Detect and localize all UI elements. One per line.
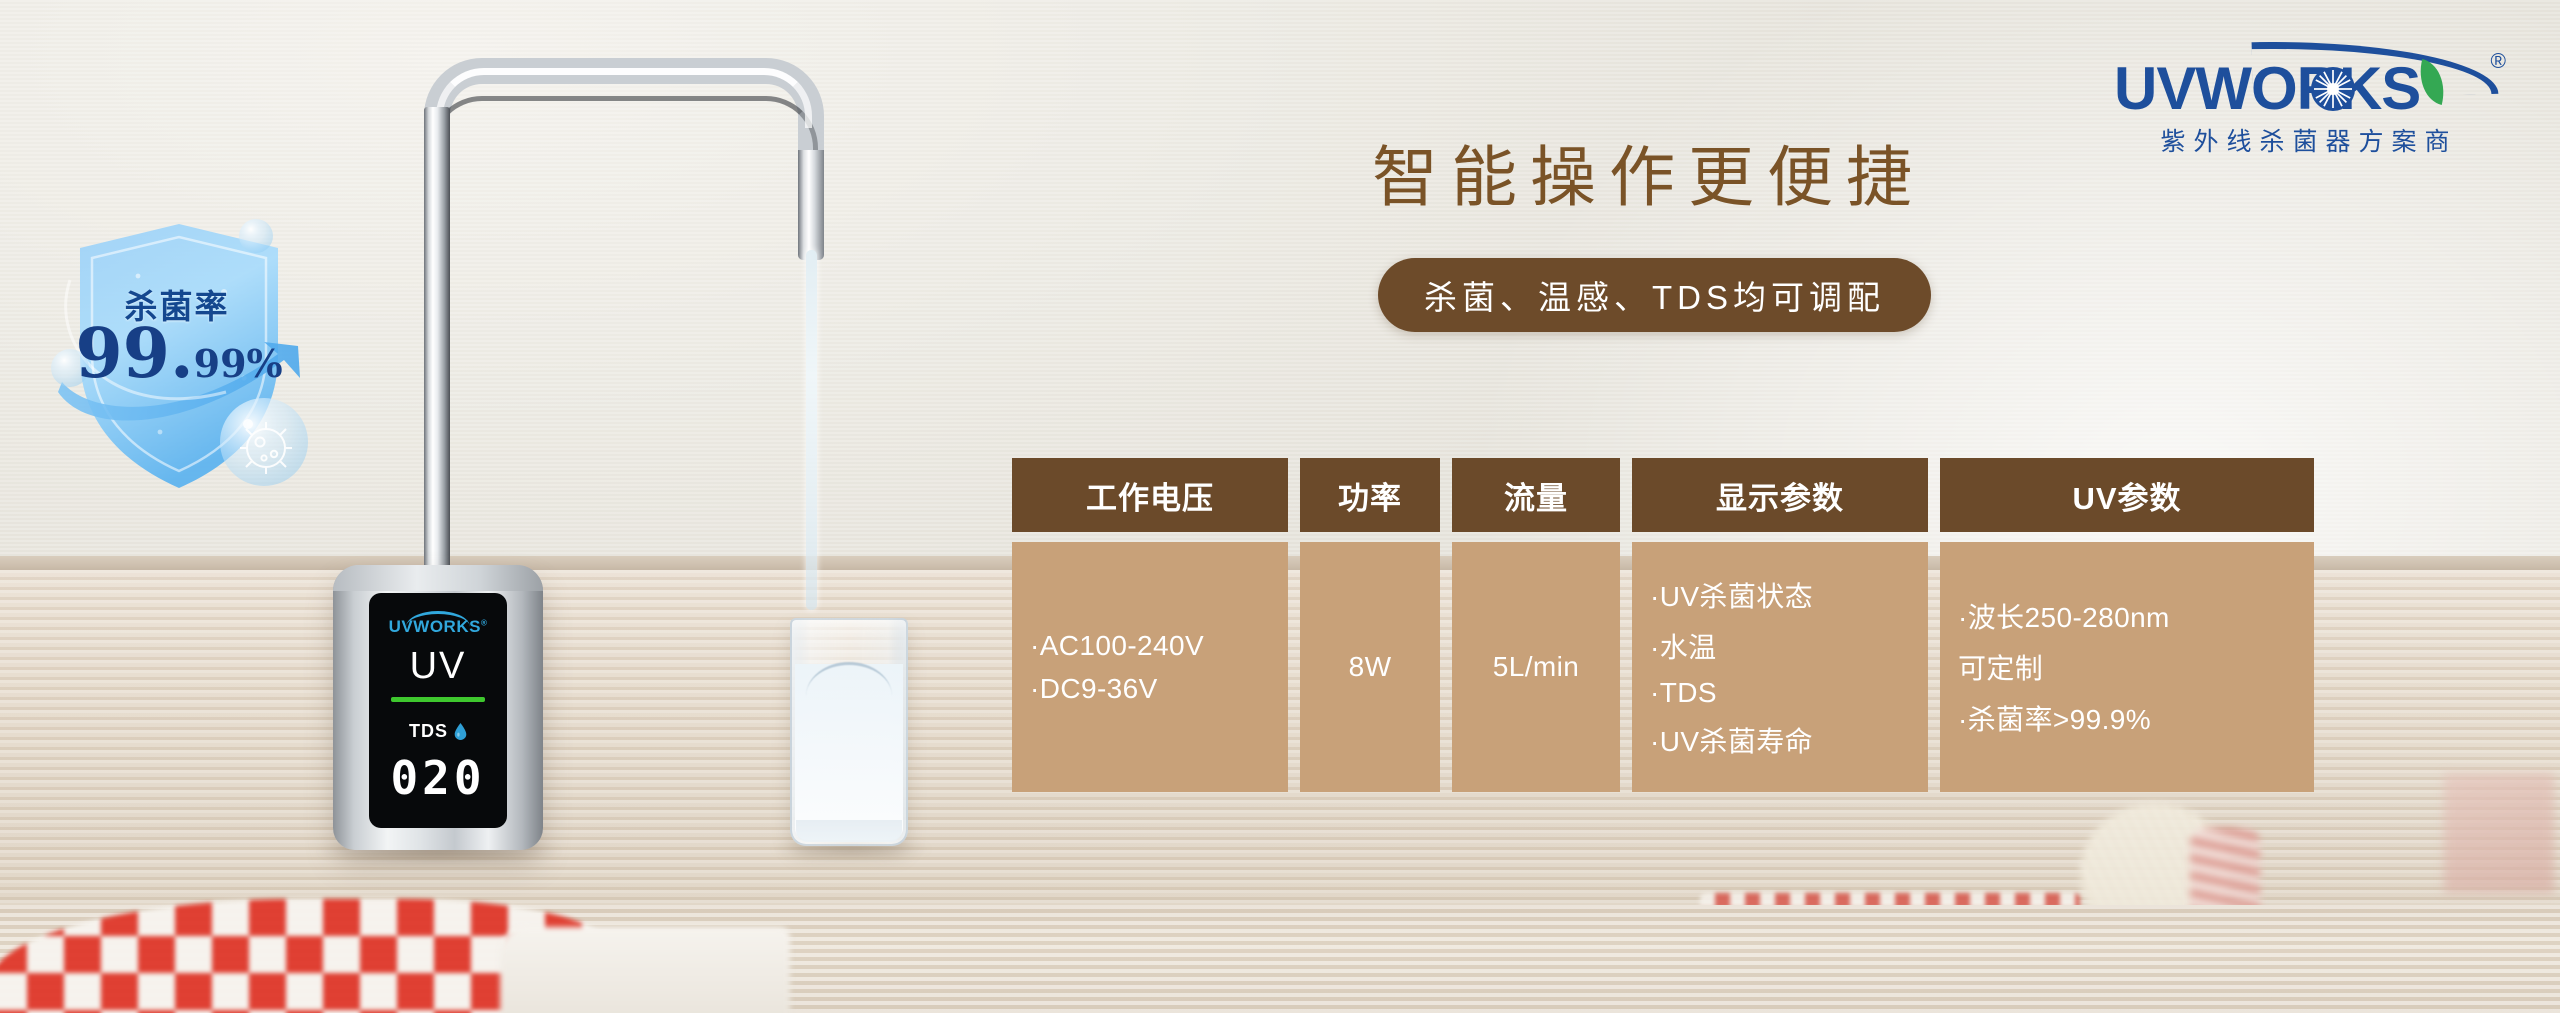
badge-percentage: 99.99%: [48, 320, 310, 388]
feature-pill-label: 杀菌、温感、TDS均可调配: [1424, 271, 1885, 319]
spec-column: 流量5L/min: [1452, 458, 1620, 792]
spec-line: 可定制: [1958, 647, 2043, 687]
badge-value-fraction: 99%: [194, 341, 283, 386]
faucet-spout: [798, 150, 824, 260]
screen-status-bar: [391, 697, 485, 702]
screen-brand-logo: UVWORKS®: [369, 617, 507, 637]
faucet-arc: [424, 58, 824, 188]
spec-line: ·杀菌率>99.9%: [1958, 698, 2151, 738]
spec-line: ·水温: [1650, 626, 1717, 666]
screen-tds-row: TDS: [369, 721, 507, 742]
page-title: 智能操作更便捷: [1372, 124, 1925, 220]
bubble-icon: [239, 219, 273, 253]
spec-line: 8W: [1349, 651, 1392, 683]
badge-value-integer: 99: [75, 314, 170, 394]
brand-logo[interactable]: UVWORKS ® 紫外线杀菌器方案商: [2114, 42, 2504, 158]
device-display-panel[interactable]: UVWORKS® UV TDS 020: [369, 593, 507, 828]
device-top-cap: [333, 565, 543, 591]
badge-value-separator: .: [170, 314, 194, 394]
spec-column: 显示参数·UV杀菌状态·水温·TDS·UV杀菌寿命: [1632, 458, 1928, 792]
brand-tagline: 紫外线杀菌器方案商: [2114, 122, 2504, 158]
spec-column-body: 8W: [1300, 542, 1440, 792]
spec-line: ·DC9-36V: [1030, 673, 1158, 705]
uv-sterilizer-device[interactable]: UVWORKS® UV TDS 020: [333, 565, 543, 850]
faucet-stem: [424, 107, 450, 577]
spec-column: 工作电压·AC100-240V·DC9-36V: [1012, 458, 1288, 792]
spec-line: 5L/min: [1493, 651, 1579, 683]
spec-column-header: UV参数: [1940, 458, 2314, 532]
screen-brand-registered: ®: [481, 618, 487, 627]
screen-brand-text: UVWORKS: [389, 617, 481, 636]
spec-line: ·AC100-240V: [1030, 630, 1204, 662]
spec-column-body: 5L/min: [1452, 542, 1620, 792]
spec-column-header: 显示参数: [1632, 458, 1928, 532]
spec-line: ·波长250-280nm: [1958, 596, 2170, 636]
white-dish-prop: [500, 927, 790, 1013]
spec-column-body: ·AC100-240V·DC9-36V: [1012, 542, 1288, 792]
feature-pill: 杀菌、温感、TDS均可调配: [1378, 258, 1931, 332]
water-drop-icon: [454, 723, 467, 740]
spec-column-header: 工作电压: [1012, 458, 1288, 532]
brand-wordmark: UVWORKS: [2114, 54, 2420, 123]
spec-line: ·UV杀菌状态: [1650, 575, 1813, 615]
spec-column-body: ·UV杀菌状态·水温·TDS·UV杀菌寿命: [1632, 542, 1928, 792]
screen-mode-label: UV: [369, 645, 507, 688]
spec-line: ·UV杀菌寿命: [1650, 720, 1813, 760]
screen-tds-value: 020: [369, 751, 507, 805]
wood-block-prop-c: [2444, 773, 2554, 893]
uvworks-sun-icon: [2310, 66, 2356, 112]
glass-base: [796, 820, 902, 842]
spec-column-header: 流量: [1452, 458, 1620, 532]
screen-tds-label: TDS: [409, 721, 448, 742]
spec-column-body: ·波长250-280nm可定制·杀菌率>99.9%: [1940, 542, 2314, 792]
brand-registered-mark: ®: [2491, 50, 2506, 74]
germ-icon: [220, 398, 308, 486]
spec-column: UV参数·波长250-280nm可定制·杀菌率>99.9%: [1940, 458, 2314, 792]
spec-column: 功率8W: [1300, 458, 1440, 792]
brand-mark: UVWORKS ®: [2114, 42, 2504, 120]
sterilization-rate-badge: 杀菌率 99.99%: [48, 196, 348, 516]
water-glass: [790, 618, 908, 846]
water-stream: [806, 250, 817, 610]
spec-column-header: 功率: [1300, 458, 1440, 532]
spec-line: ·TDS: [1650, 677, 1717, 709]
spec-table: 工作电压·AC100-240V·DC9-36V功率8W流量5L/min显示参数·…: [1012, 458, 2314, 792]
